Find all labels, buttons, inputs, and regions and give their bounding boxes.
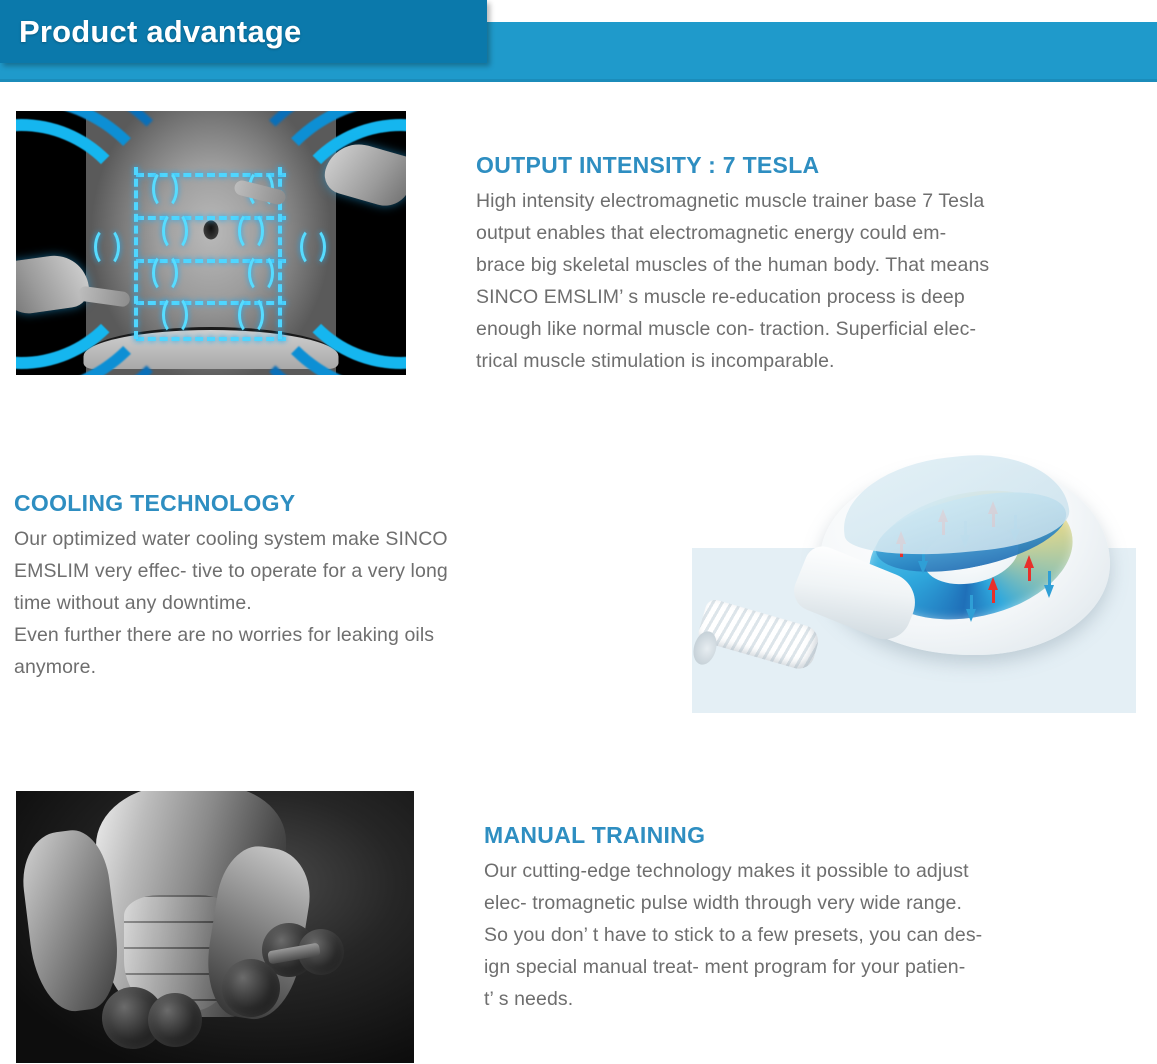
body-line: SINCO EMSLIM’ s muscle re-education proc… bbox=[476, 281, 1148, 313]
heat-arrow-stem bbox=[992, 589, 995, 603]
body-line: enough like normal muscle con- traction.… bbox=[476, 313, 1148, 345]
section-body-manual: Our cutting-edge technology makes it pos… bbox=[484, 855, 1150, 1015]
pulse-arc-4 bbox=[238, 211, 264, 251]
section-heading-output: OUTPUT INTENSITY : 7 TESLA bbox=[476, 152, 1148, 179]
heat-arrow-stem bbox=[1028, 567, 1031, 581]
page-title: Product advantage bbox=[0, 14, 301, 50]
heat-out-arrow-icon bbox=[988, 577, 998, 590]
body-line: Our optimized water cooling system make … bbox=[14, 523, 634, 555]
dashed-guide-row-5 bbox=[136, 337, 286, 341]
section-cooling-technology: COOLING TECHNOLOGY Our optimized water c… bbox=[14, 490, 634, 683]
body-line: Our cutting-edge technology makes it pos… bbox=[484, 855, 1150, 887]
section-heading-manual: MANUAL TRAINING bbox=[484, 822, 1150, 849]
dashed-guide-row-4 bbox=[136, 301, 286, 305]
section-output-intensity: OUTPUT INTENSITY : 7 TESLA High intensit… bbox=[476, 152, 1148, 377]
product-advantage-page: Product advantage bbox=[0, 0, 1157, 1064]
pulse-arc-8 bbox=[238, 295, 264, 335]
heat-out-arrow-icon bbox=[1024, 555, 1034, 568]
body-line: trical muscle stimulation is incomparabl… bbox=[476, 345, 1148, 377]
dashed-guide-col-left bbox=[134, 167, 138, 339]
pulse-arc-10 bbox=[300, 227, 326, 267]
dumbbell-plate bbox=[148, 993, 202, 1047]
body-line: Even further there are no worries for le… bbox=[14, 619, 634, 651]
body-line: elec- tromagnetic pulse width through ve… bbox=[484, 887, 1150, 919]
cool-in-arrow-icon bbox=[966, 609, 976, 622]
cooling-applicator-diagram bbox=[692, 455, 1136, 713]
body-line: output enables that electromagnetic ener… bbox=[476, 217, 1148, 249]
body-line: time without any downtime. bbox=[14, 587, 634, 619]
body-line: ign special manual treat- ment program f… bbox=[484, 951, 1150, 983]
pulse-arc-1 bbox=[152, 169, 178, 209]
pulse-arc-9 bbox=[94, 227, 120, 267]
body-line: anymore. bbox=[14, 651, 634, 683]
section-body-cooling: Our optimized water cooling system make … bbox=[14, 523, 634, 683]
body-line: brace big skeletal muscles of the human … bbox=[476, 249, 1148, 281]
body-line: t’ s needs. bbox=[484, 983, 1150, 1015]
abdomen-treatment-photo bbox=[16, 111, 406, 375]
pulse-arc-7 bbox=[162, 295, 188, 335]
pulse-arc-6 bbox=[248, 253, 274, 293]
cool-arrow-stem bbox=[1048, 571, 1051, 585]
cool-in-arrow-icon bbox=[1044, 585, 1054, 598]
cool-arrow-stem bbox=[970, 595, 973, 609]
cool-in-arrow-icon bbox=[918, 561, 928, 574]
body-line: High intensity electromagnetic muscle tr… bbox=[476, 185, 1148, 217]
bodybuilder-dumbbell-photo bbox=[16, 791, 414, 1063]
section-heading-cooling: COOLING TECHNOLOGY bbox=[14, 490, 634, 517]
header-tab: Product advantage bbox=[0, 0, 487, 63]
pulse-arc-5 bbox=[152, 253, 178, 293]
section-manual-training: MANUAL TRAINING Our cutting-edge technol… bbox=[484, 822, 1150, 1015]
body-line: So you don’ t have to stick to a few pre… bbox=[484, 919, 1150, 951]
pulse-arc-3 bbox=[162, 211, 188, 251]
dashed-guide-row-2 bbox=[136, 216, 286, 220]
section-body-output: High intensity electromagnetic muscle tr… bbox=[476, 185, 1148, 377]
dumbbell-plate bbox=[222, 959, 280, 1017]
body-line: EMSLIM very effec- tive to operate for a… bbox=[14, 555, 634, 587]
